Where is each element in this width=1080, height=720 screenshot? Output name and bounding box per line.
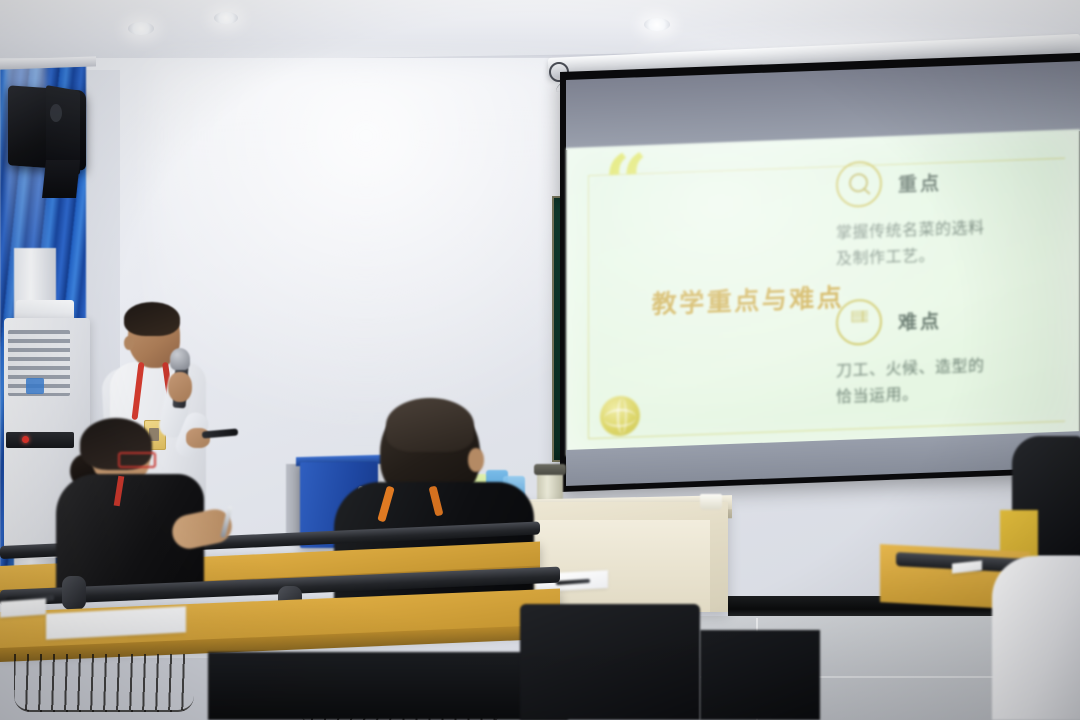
chair-row-foreground [208, 652, 568, 720]
desk-rail-cap [62, 576, 86, 610]
air-conditioner-badge [26, 378, 44, 394]
key-point-label: 重点 [898, 168, 942, 197]
air-conditioner-top [16, 300, 74, 320]
ceiling-downlight [128, 22, 154, 35]
attendee-right [992, 556, 1080, 720]
book-icon: ▤▤ [836, 298, 882, 346]
projected-slide: “ 教学重点与难点 重点 掌握传统名菜的选料 及制作工艺。 ▤▤ 难点 刀工、火… [566, 129, 1080, 456]
difficult-point-header: ▤▤ 难点 [836, 292, 1066, 346]
paper-sheet [0, 598, 46, 617]
difficult-point-label: 难点 [898, 306, 942, 335]
speaker-mount-bracket [42, 160, 80, 198]
small-cup [700, 494, 722, 510]
magnifier-icon [836, 160, 882, 208]
desk-basket [14, 654, 194, 712]
key-point-header: 重点 [836, 154, 1066, 208]
coffee-cup-lid [534, 464, 566, 475]
glasses-icon [118, 452, 156, 468]
air-conditioner-control-panel[interactable] [6, 432, 74, 448]
ceiling-downlight [644, 18, 670, 31]
quote-mark-decoration: “ [604, 155, 646, 211]
power-led-icon [22, 436, 29, 443]
chair-back [520, 604, 700, 720]
presenter-hair [124, 302, 180, 336]
difficult-point-block: ▤▤ 难点 刀工、火候、造型的 恰当运用。 [836, 292, 1066, 410]
microphone-icon [170, 348, 190, 370]
attendee-center-ear [468, 448, 484, 472]
chair-back [700, 630, 820, 720]
attendee-center-hair [386, 398, 474, 452]
presenter-ear [124, 336, 134, 350]
classroom-photo: “ 教学重点与难点 重点 掌握传统名菜的选料 及制作工艺。 ▤▤ 难点 刀工、火… [0, 0, 1080, 720]
ceiling-downlight [214, 12, 238, 24]
speaker-driver [50, 104, 62, 122]
key-point-block: 重点 掌握传统名菜的选料 及制作工艺。 [836, 154, 1066, 272]
presenter-hand [168, 372, 192, 402]
